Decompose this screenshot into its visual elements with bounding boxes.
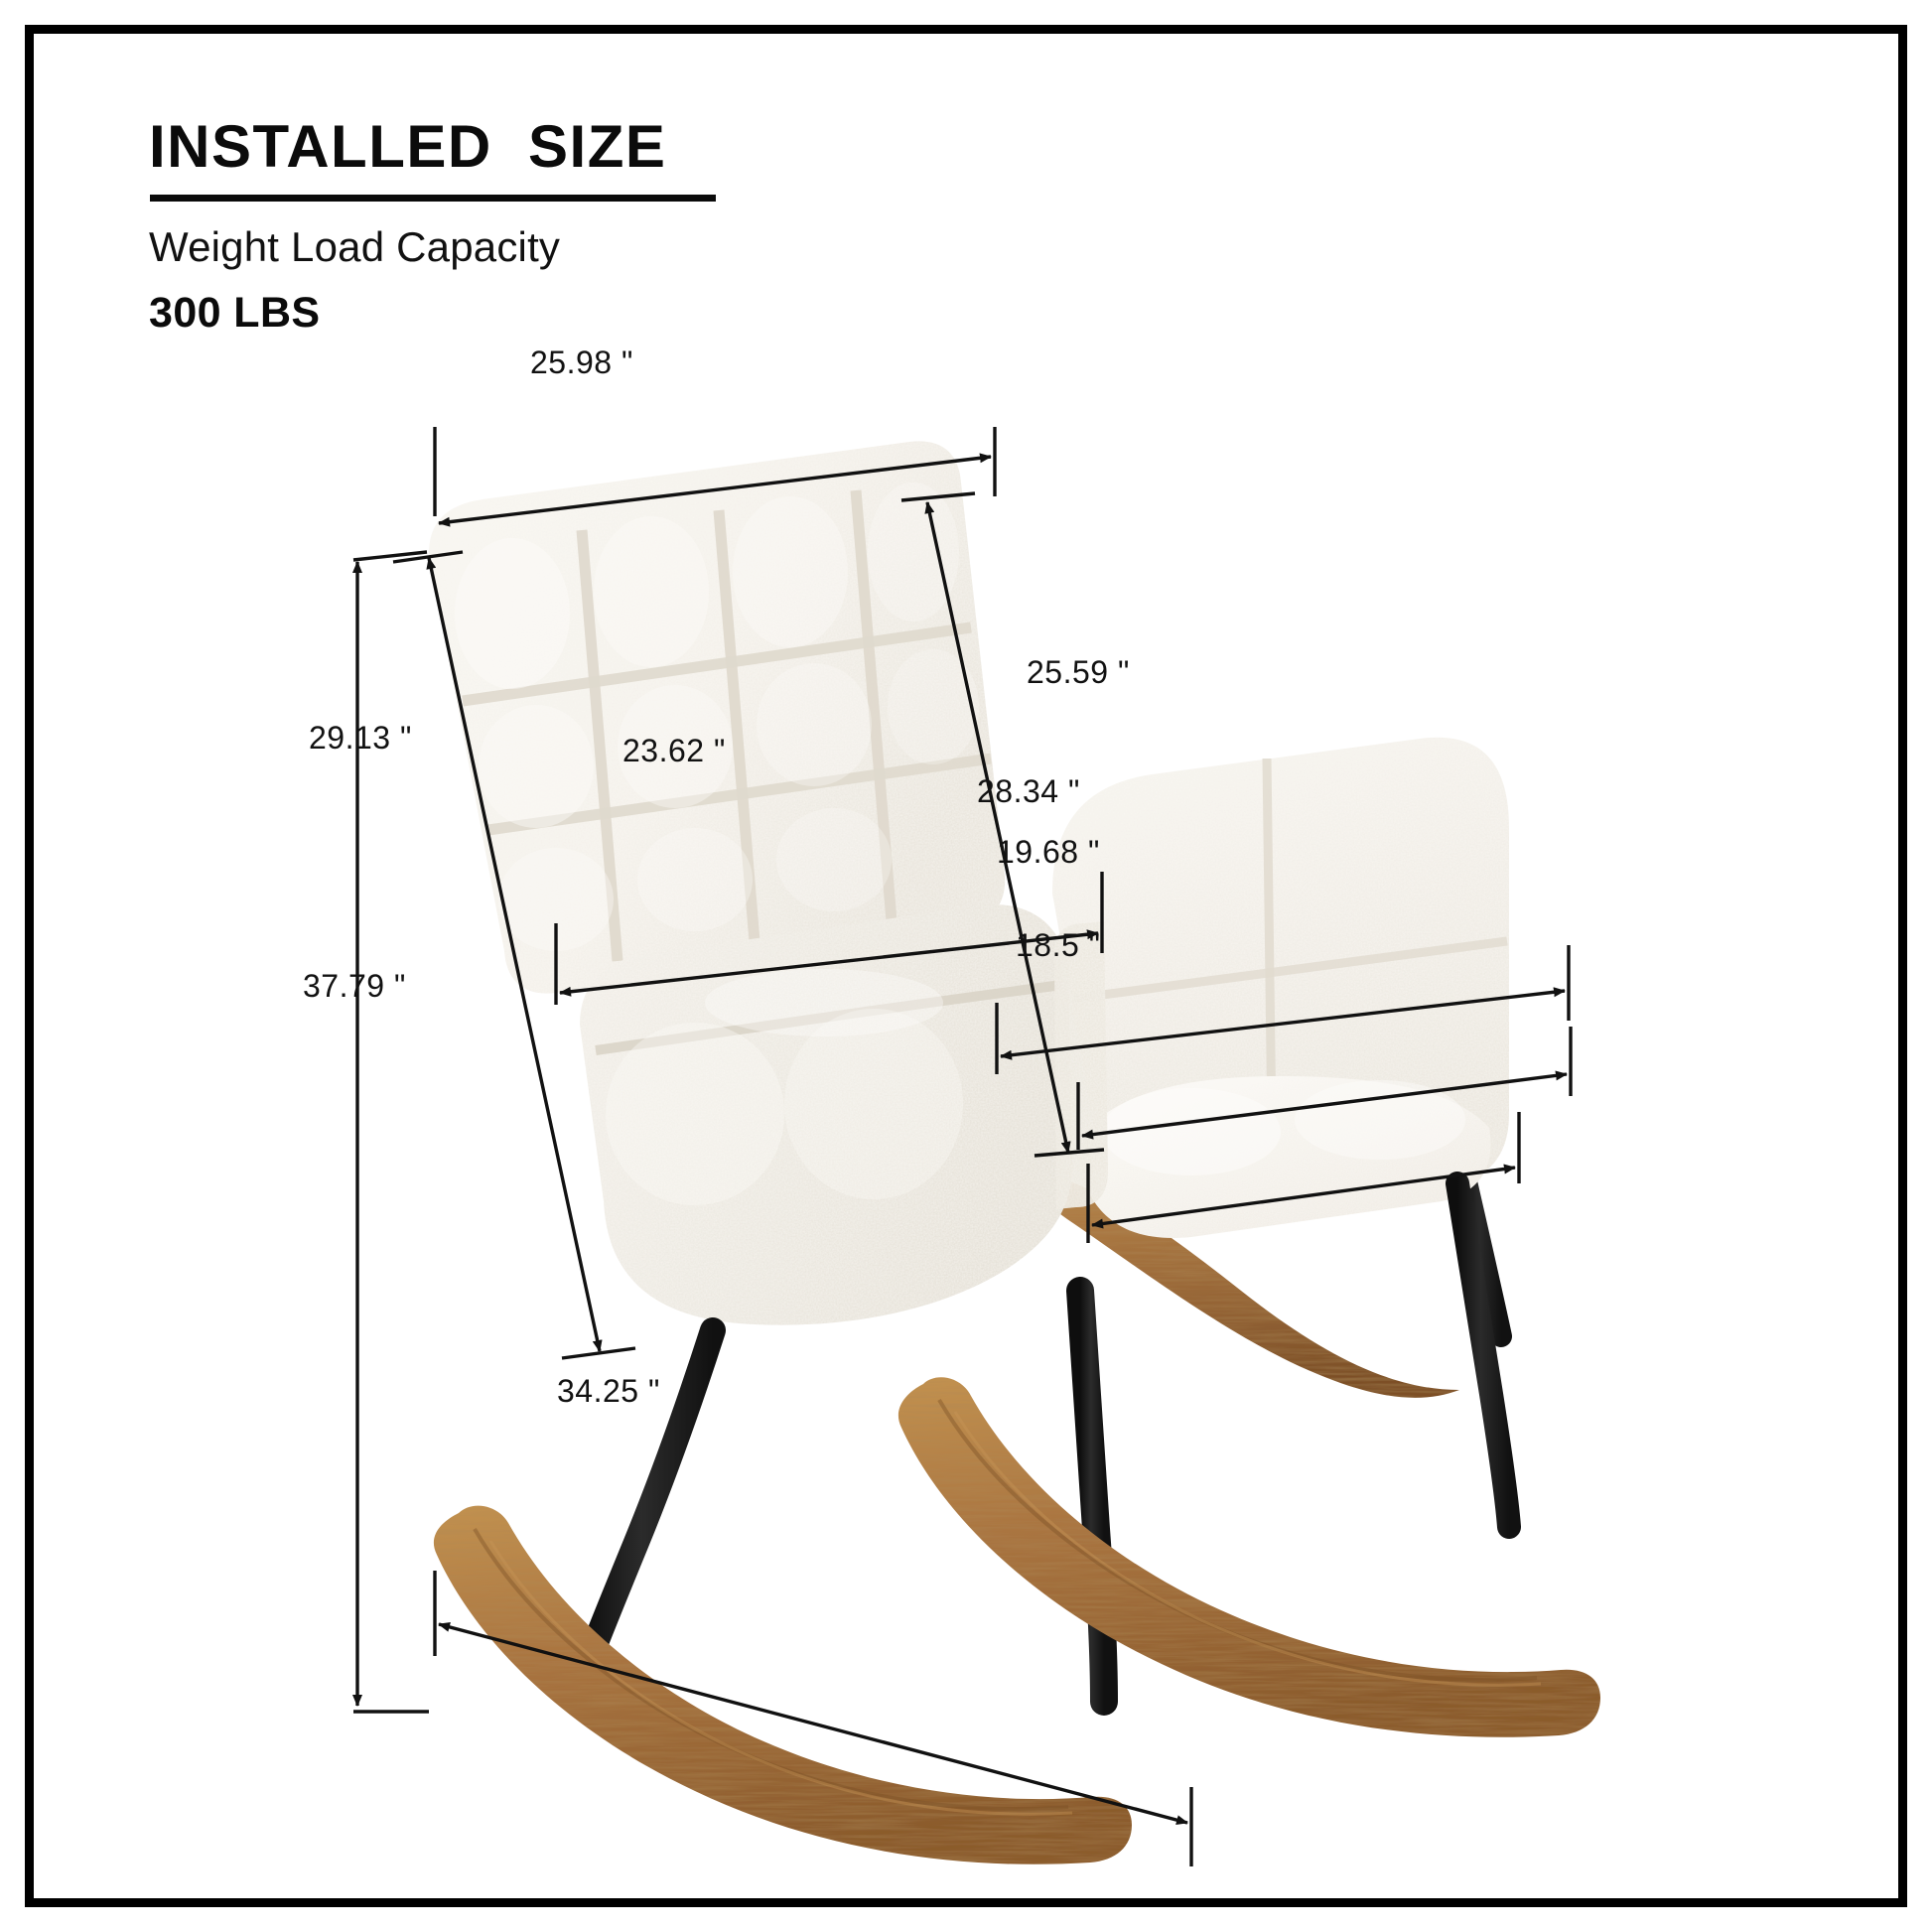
dim-label-backrest-height: 25.59 " bbox=[1027, 654, 1130, 691]
dimension-labels-layer: 25.98 " 25.59 " 29.13 " 23.62 " 28.34 " … bbox=[0, 0, 1932, 1932]
dim-label-overall-back-width: 25.98 " bbox=[530, 345, 633, 381]
dimension-diagram-page: INSTALLED SIZE Weight Load Capacity 300 … bbox=[0, 0, 1932, 1932]
dim-label-seat-depth: 19.68 " bbox=[997, 834, 1100, 871]
dim-label-rocker-base-length: 34.25 " bbox=[557, 1373, 660, 1410]
dim-label-seat-back-height: 29.13 " bbox=[309, 720, 412, 757]
dim-label-overall-depth: 28.34 " bbox=[977, 773, 1080, 810]
dim-label-seat-cushion-depth: 18.5 " bbox=[1016, 927, 1101, 964]
dim-label-overall-height: 37.79 " bbox=[303, 968, 406, 1005]
dim-label-seat-inner-width: 23.62 " bbox=[622, 733, 726, 769]
